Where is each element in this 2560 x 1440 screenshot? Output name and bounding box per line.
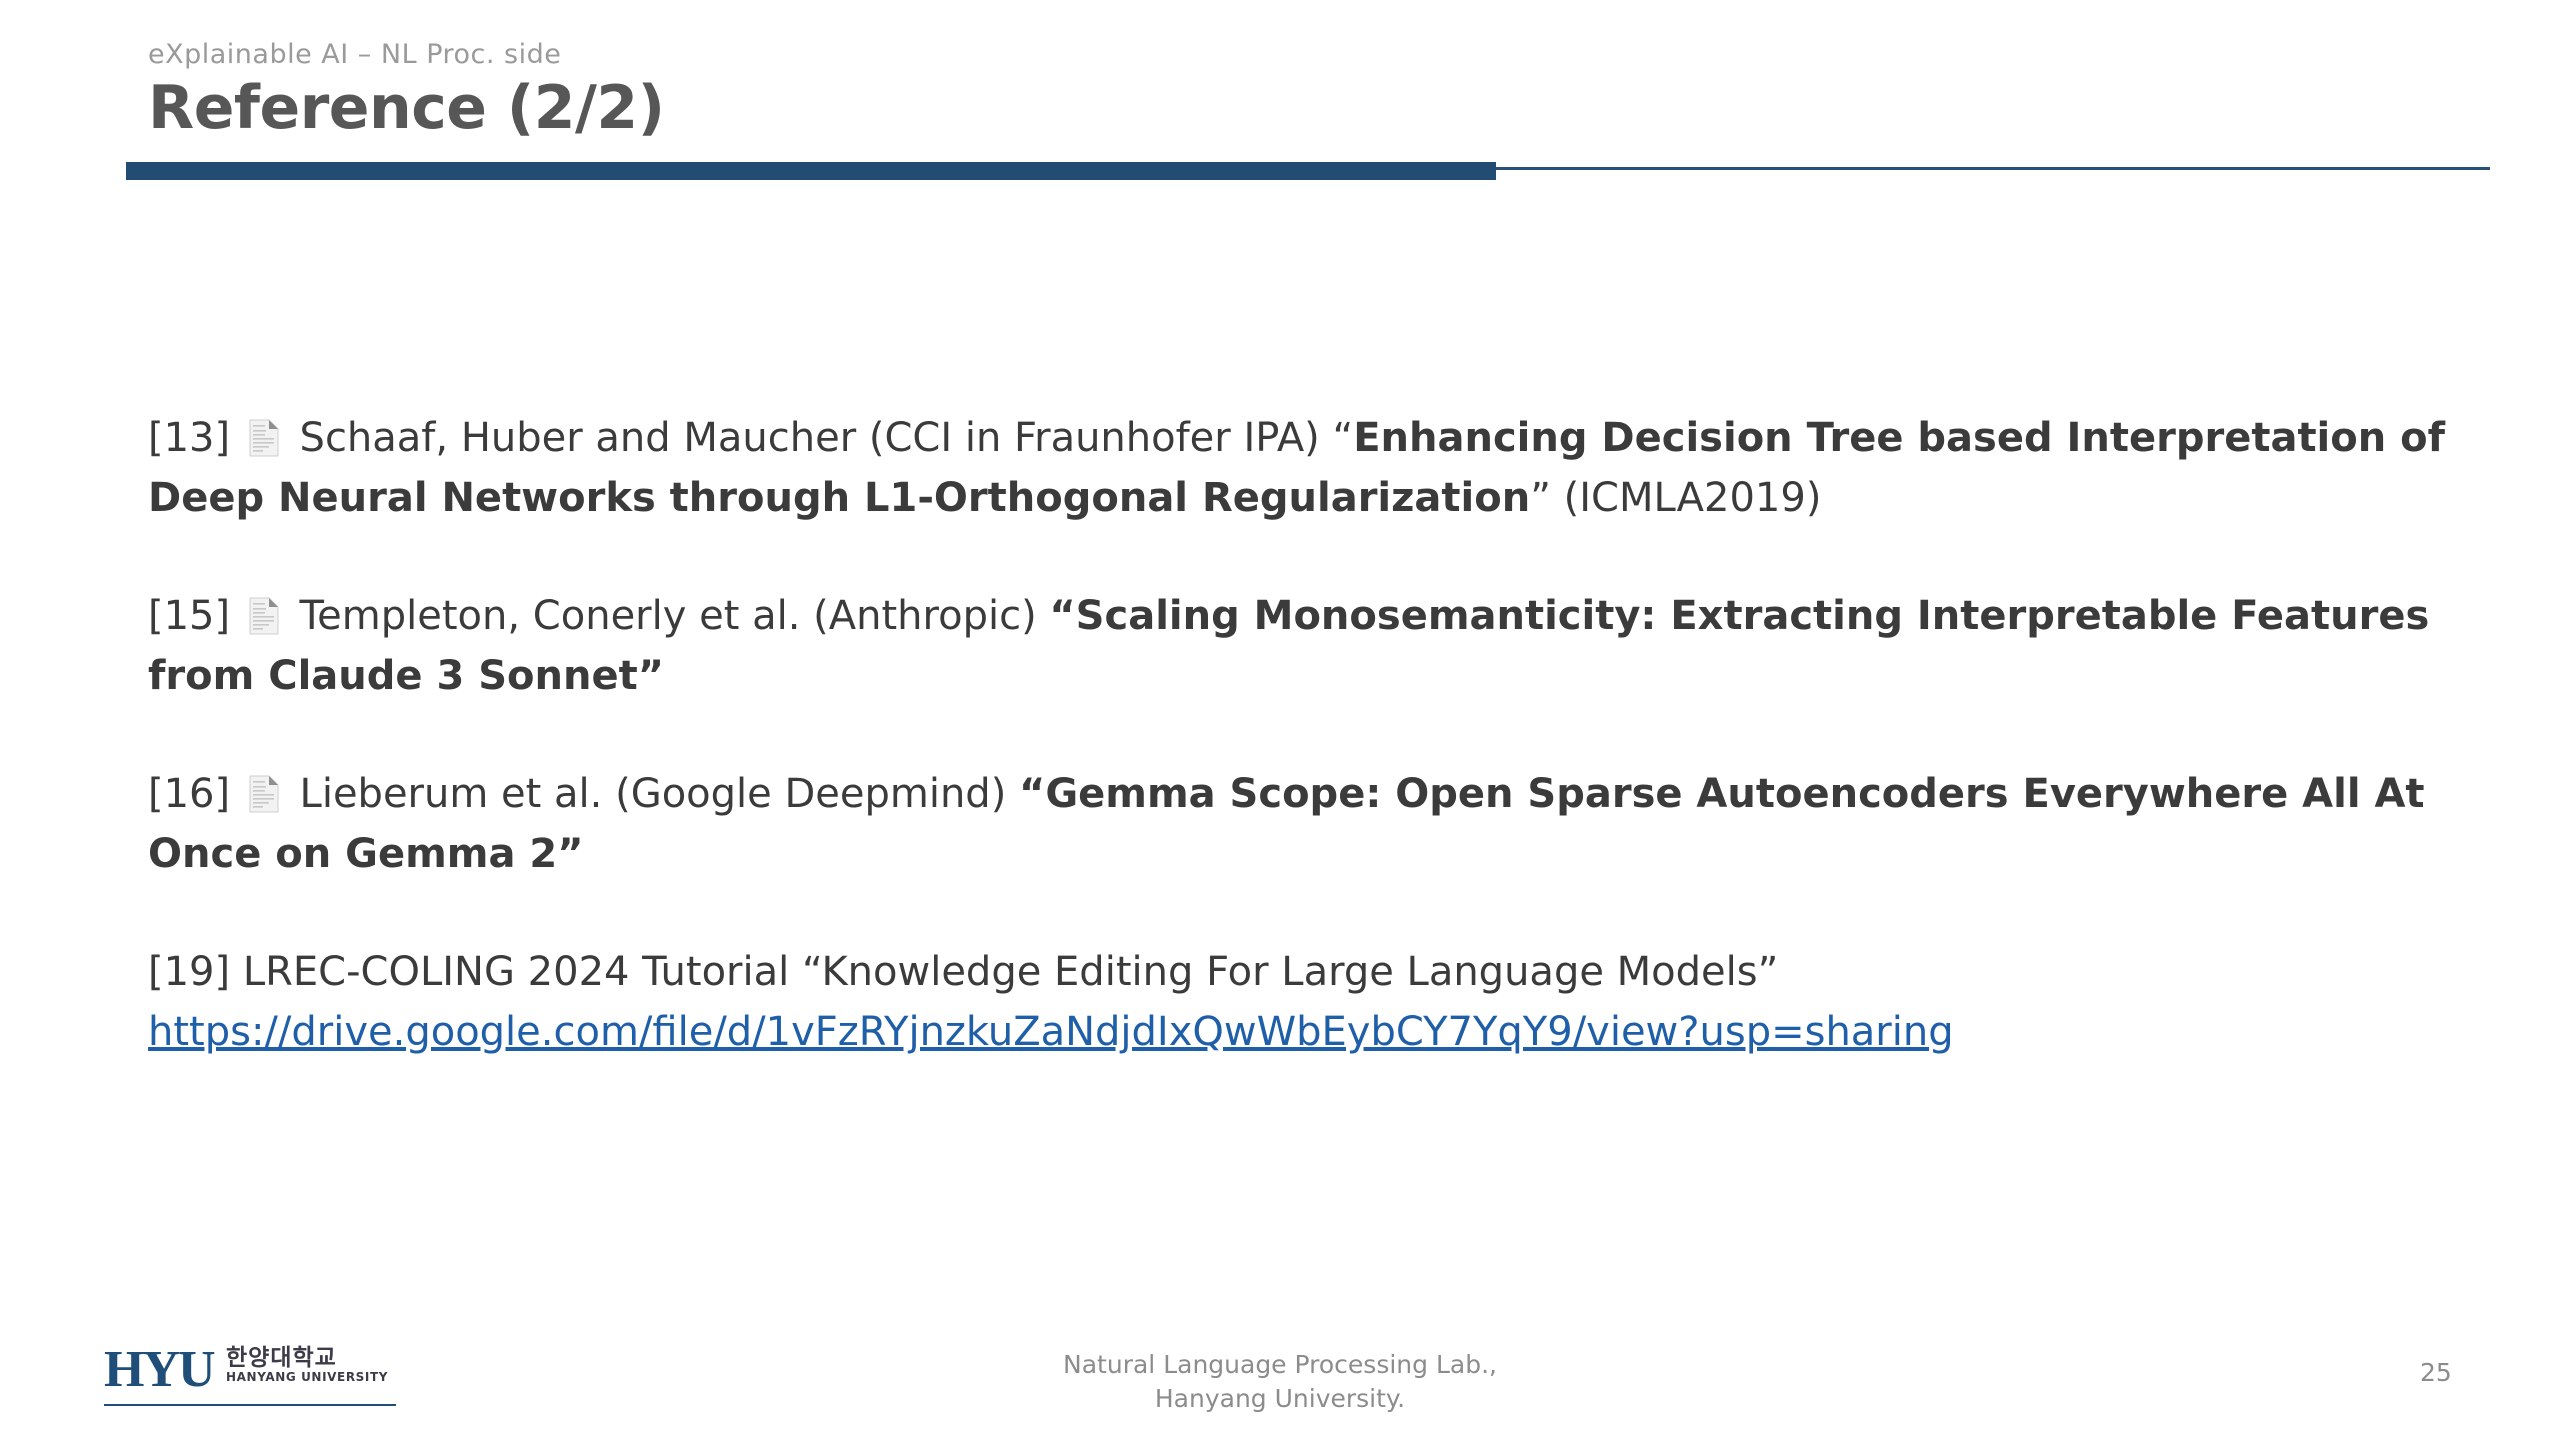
reference-list: [13] Schaaf, Huber and Maucher (CCI in F… <box>148 408 2478 1062</box>
page-number: 25 <box>2420 1358 2452 1387</box>
page-facing-up-icon <box>249 597 279 635</box>
hyu-logo: HYU 한양대학교 HANYANG UNIVERSITY <box>104 1344 404 1418</box>
reference-tag: [13] <box>148 415 230 461</box>
reference-authors: Lieberum et al. (Google Deepmind) <box>300 771 1019 817</box>
reference-suffix: ” (ICMLA2019) <box>1530 475 1821 521</box>
reference-tag: [19] <box>148 949 230 995</box>
page-title: Reference (2/2) <box>148 74 2488 143</box>
reference-tag: [16] <box>148 771 230 817</box>
title-divider <box>126 162 2490 180</box>
reference-authors: Schaaf, Huber and Maucher (CCI in Fraunh… <box>300 415 1354 461</box>
hyu-wordmark: HYU <box>104 1344 214 1396</box>
reference-item: [13] Schaaf, Huber and Maucher (CCI in F… <box>148 408 2478 528</box>
divider-accent-bar <box>126 162 1496 180</box>
page-facing-up-icon <box>249 419 279 457</box>
reference-item: [16] Lieberum et al. (Google Deepmind) “… <box>148 764 2478 884</box>
slide-eyebrow: eXplainable AI – NL Proc. side <box>148 40 2488 70</box>
slide-header: eXplainable AI – NL Proc. side Reference… <box>148 40 2488 143</box>
reference-link[interactable]: https://drive.google.com/file/d/1vFzRYjn… <box>148 1009 1954 1055</box>
hyu-english-name: HANYANG UNIVERSITY <box>226 1370 388 1384</box>
reference-item: [19] LREC-COLING 2024 Tutorial “Knowledg… <box>148 942 2478 1062</box>
page-facing-up-icon <box>249 775 279 813</box>
hyu-name-block: 한양대학교 HANYANG UNIVERSITY <box>226 1344 388 1385</box>
reference-tag: [15] <box>148 593 230 639</box>
hyu-logo-rule <box>104 1404 396 1406</box>
reference-authors: LREC-COLING 2024 Tutorial “Knowledge Edi… <box>230 949 1778 995</box>
reference-authors: Templeton, Conerly et al. (Anthropic) <box>300 593 1050 639</box>
reference-item: [15] Templeton, Conerly et al. (Anthropi… <box>148 586 2478 706</box>
hyu-korean-name: 한양대학교 <box>226 1346 388 1370</box>
